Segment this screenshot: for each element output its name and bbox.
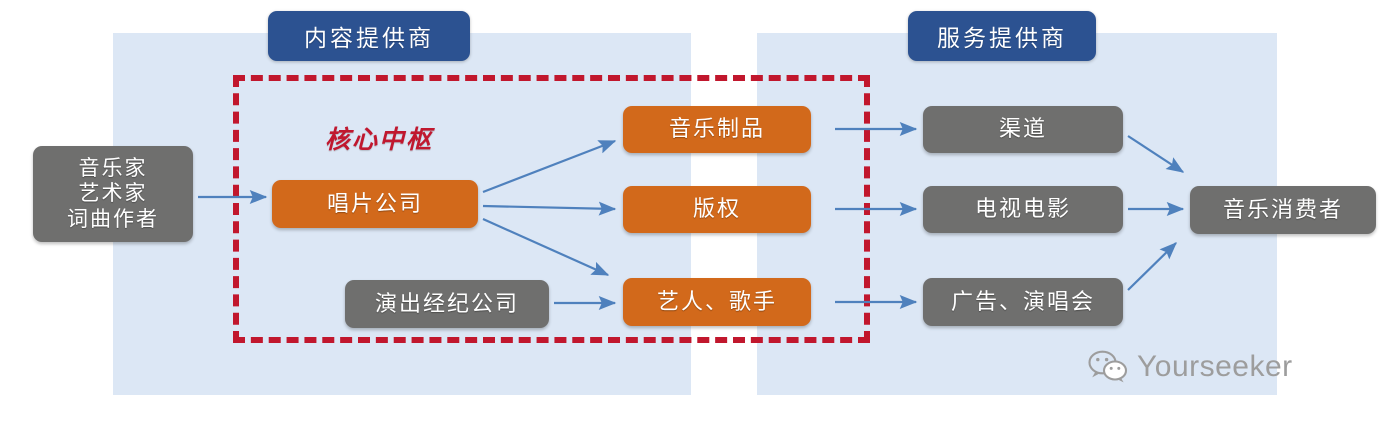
- node-creators-line-2: 艺术家: [79, 181, 148, 207]
- node-channel[interactable]: 渠道: [923, 106, 1123, 153]
- watermark: Yourseeker: [1088, 350, 1293, 384]
- node-copyright-text: 版权: [693, 196, 741, 223]
- node-creators-line-3: 词曲作者: [67, 207, 159, 233]
- node-performance-agency-text: 演出经纪公司: [375, 291, 519, 318]
- node-music-consumers-text: 音乐消费者: [1223, 197, 1343, 224]
- core-hub-annotation: 核心中枢: [325, 120, 433, 156]
- node-record-label-text: 唱片公司: [327, 191, 423, 218]
- node-tv-film[interactable]: 电视电影: [923, 186, 1123, 233]
- wechat-icon: [1088, 350, 1128, 384]
- section-header-service-provider[interactable]: 服务提供商: [908, 11, 1096, 61]
- node-music-products-text: 音乐制品: [669, 116, 765, 143]
- section-header-content-provider[interactable]: 内容提供商: [268, 11, 470, 61]
- node-creators-line-1: 音乐家: [79, 156, 148, 182]
- node-ads-concerts-text: 广告、演唱会: [951, 289, 1095, 316]
- node-music-consumers[interactable]: 音乐消费者: [1190, 186, 1376, 234]
- node-music-products[interactable]: 音乐制品: [623, 106, 811, 153]
- node-ads-concerts[interactable]: 广告、演唱会: [923, 278, 1123, 326]
- node-creators[interactable]: 音乐家 艺术家 词曲作者: [33, 146, 193, 242]
- node-performance-agency[interactable]: 演出经纪公司: [345, 280, 549, 328]
- node-channel-text: 渠道: [999, 116, 1047, 143]
- node-tv-film-text: 电视电影: [975, 196, 1071, 223]
- node-copyright[interactable]: 版权: [623, 186, 811, 233]
- node-artists-singers[interactable]: 艺人、歌手: [623, 278, 811, 326]
- node-record-label[interactable]: 唱片公司: [272, 180, 478, 228]
- watermark-text: Yourseeker: [1137, 350, 1293, 384]
- diagram-canvas: 内容提供商 服务提供商 核心中枢 音乐家 艺术家 词曲作者 唱片公司 演出经纪公…: [0, 0, 1397, 427]
- node-artists-singers-text: 艺人、歌手: [657, 289, 777, 316]
